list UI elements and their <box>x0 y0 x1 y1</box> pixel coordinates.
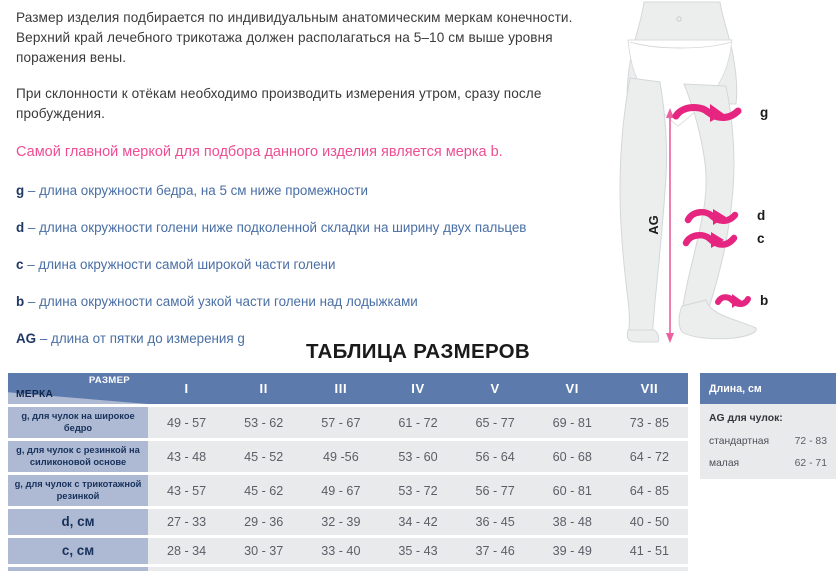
column-header-1: I <box>148 373 225 404</box>
table-row: c, см 28 - 34 30 - 37 33 - 40 35 - 43 37… <box>8 538 688 564</box>
table-row: b, см 18 - 20 20 - 22 22 - 24 24 - 26 26… <box>8 567 688 571</box>
table-cell: 69 - 81 <box>534 407 611 438</box>
table-cell: 57 - 67 <box>302 407 379 438</box>
definition-key-d: d <box>16 220 24 235</box>
definition-dash-b: – <box>28 294 35 309</box>
row-values: 18 - 20 20 - 22 22 - 24 24 - 26 26 - 28 … <box>148 567 688 571</box>
row-label: c, см <box>8 538 148 564</box>
definition-text-d: длина окружности голени ниже подколенной… <box>39 220 526 235</box>
table-cell: 56 - 77 <box>457 475 534 506</box>
corner-size-label: РАЗМЕР <box>89 375 130 386</box>
table-cell: 41 - 51 <box>611 538 688 564</box>
table-cell: 61 - 72 <box>379 407 456 438</box>
definition-key-c: c <box>16 257 23 272</box>
column-header-3: III <box>302 373 379 404</box>
definition-key-b: b <box>16 294 24 309</box>
table-cell: 22 - 24 <box>302 567 379 571</box>
table-cell: 30 - 32 <box>611 567 688 571</box>
table-cell: 40 - 50 <box>611 509 688 535</box>
table-row: g, для чулок с трикотажной резинкой 43 -… <box>8 475 688 506</box>
table-cell: 24 - 26 <box>379 567 456 571</box>
length-panel: Длина, см AG для чулок: стандартная 72 -… <box>700 373 836 479</box>
length-row-standard: стандартная 72 - 83 <box>709 436 827 447</box>
table-cell: 43 - 48 <box>148 441 225 472</box>
table-cell: 37 - 46 <box>457 538 534 564</box>
table-cell: 35 - 43 <box>379 538 456 564</box>
length-panel-body: AG для чулок: стандартная 72 - 83 малая … <box>700 404 836 479</box>
ag-dimension-arrow <box>666 108 674 343</box>
row-label: g, для чулок с резинкой на силиконовой о… <box>8 441 148 472</box>
table-cell: 53 - 60 <box>379 441 456 472</box>
length-row-small: малая 62 - 71 <box>709 458 827 469</box>
table-cell: 53 - 62 <box>225 407 302 438</box>
row-values: 43 - 57 45 - 62 49 - 67 53 - 72 56 - 77 … <box>148 475 688 506</box>
row-values: 28 - 34 30 - 37 33 - 40 35 - 43 37 - 46 … <box>148 538 688 564</box>
table-cell: 38 - 48 <box>534 509 611 535</box>
row-values: 43 - 48 45 - 52 49 -56 53 - 60 56 - 64 6… <box>148 441 688 472</box>
row-values: 27 - 33 29 - 36 32 - 39 34 - 42 36 - 45 … <box>148 509 688 535</box>
size-header-cells: I II III IV V VI VII <box>148 373 688 404</box>
definition-dash-g: – <box>28 183 35 198</box>
row-label: d, см <box>8 509 148 535</box>
table-cell: 45 - 52 <box>225 441 302 472</box>
table-cell: 39 - 49 <box>534 538 611 564</box>
figure-label-b: b <box>760 293 768 308</box>
row-label: g, для чулок с трикотажной резинкой <box>8 475 148 506</box>
column-header-5: V <box>457 373 534 404</box>
key-measurement-note: Самой главной меркой для подбора данного… <box>16 142 608 162</box>
definition-text-g: длина окружности бедра, на 5 см ниже про… <box>39 183 368 198</box>
length-row-value: 62 - 71 <box>795 458 827 469</box>
corner-measure-label: МЕРКА <box>16 389 53 400</box>
figure-label-g: g <box>760 105 768 120</box>
table-cell: 45 - 62 <box>225 475 302 506</box>
table-cell: 49 - 57 <box>148 407 225 438</box>
table-cell: 26 - 28 <box>457 567 534 571</box>
row-label: g, для чулок на широкое бедро <box>8 407 148 438</box>
figure-label-ag: AG <box>646 215 661 235</box>
definition-row-b: b – длина окружности самой узкой части г… <box>16 293 608 311</box>
table-cell: 36 - 45 <box>457 509 534 535</box>
table-header-row: РАЗМЕР МЕРКА I II III IV V VI VII <box>8 373 688 404</box>
length-panel-title: AG для чулок: <box>709 413 827 424</box>
column-header-4: IV <box>379 373 456 404</box>
definition-key-g: g <box>16 183 24 198</box>
measurement-definitions-list: g – длина окружности бедра, на 5 см ниже… <box>16 182 608 348</box>
definition-text-c: длина окружности самой широкой части гол… <box>38 257 335 272</box>
table-cell: 49 -56 <box>302 441 379 472</box>
definition-text-b: длина окружности самой узкой части голен… <box>39 294 418 309</box>
table-cell: 33 - 40 <box>302 538 379 564</box>
row-label: b, см <box>8 567 148 571</box>
column-header-6: VI <box>534 373 611 404</box>
table-cell: 60 - 68 <box>534 441 611 472</box>
table-cell: 43 - 57 <box>148 475 225 506</box>
table-cell: 60 - 81 <box>534 475 611 506</box>
table-cell: 18 - 20 <box>148 567 225 571</box>
intro-paragraph-2: При склонности к отёкам необходимо произ… <box>16 84 608 124</box>
column-header-7: VII <box>611 373 688 404</box>
definition-dash-d: – <box>28 220 35 235</box>
table-cell: 34 - 42 <box>379 509 456 535</box>
length-panel-header: Длина, см <box>700 373 836 404</box>
definition-dash-c: – <box>27 257 34 272</box>
figure-label-c: c <box>757 231 765 246</box>
table-cell: 29 - 36 <box>225 509 302 535</box>
figure-label-d: d <box>757 208 765 223</box>
table-cell: 27 - 33 <box>148 509 225 535</box>
table-cell: 53 - 72 <box>379 475 456 506</box>
table-cell: 56 - 64 <box>457 441 534 472</box>
table-cell: 73 - 85 <box>611 407 688 438</box>
row-values: 49 - 57 53 - 62 57 - 67 61 - 72 65 - 77 … <box>148 407 688 438</box>
table-cell: 28 - 34 <box>148 538 225 564</box>
table-cell: 49 - 67 <box>302 475 379 506</box>
instructions-column: Размер изделия подбирается по индивидуал… <box>16 8 608 367</box>
table-cell: 30 - 37 <box>225 538 302 564</box>
intro-paragraph-1: Размер изделия подбирается по индивидуал… <box>16 8 608 68</box>
length-row-name: малая <box>709 458 739 469</box>
table-cell: 64 - 85 <box>611 475 688 506</box>
length-row-value: 72 - 83 <box>795 436 827 447</box>
table-cell: 65 - 77 <box>457 407 534 438</box>
table-cell: 64 - 72 <box>611 441 688 472</box>
table-cell: 20 - 22 <box>225 567 302 571</box>
table-cell: 32 - 39 <box>302 509 379 535</box>
definition-row-c: c – длина окружности самой широкой части… <box>16 256 608 274</box>
column-header-2: II <box>225 373 302 404</box>
length-row-name: стандартная <box>709 436 769 447</box>
size-chart-page: Размер изделия подбирается по индивидуал… <box>0 0 836 571</box>
definition-row-d: d – длина окружности голени ниже подколе… <box>16 219 608 237</box>
table-row: g, для чулок на широкое бедро 49 - 57 53… <box>8 407 688 438</box>
page-title: ТАБЛИЦА РАЗМЕРОВ <box>0 340 836 364</box>
leg-measurement-diagram: AG <box>608 0 836 345</box>
table-row: g, для чулок с резинкой на силиконовой о… <box>8 441 688 472</box>
definition-row-g: g – длина окружности бедра, на 5 см ниже… <box>16 182 608 200</box>
table-corner-header: РАЗМЕР МЕРКА <box>8 373 148 404</box>
female-body-silhouette <box>620 2 756 342</box>
table-row: d, см 27 - 33 29 - 36 32 - 39 34 - 42 36… <box>8 509 688 535</box>
table-cell: 28 - 30 <box>534 567 611 571</box>
size-table: РАЗМЕР МЕРКА I II III IV V VI VII g, для… <box>8 373 688 571</box>
